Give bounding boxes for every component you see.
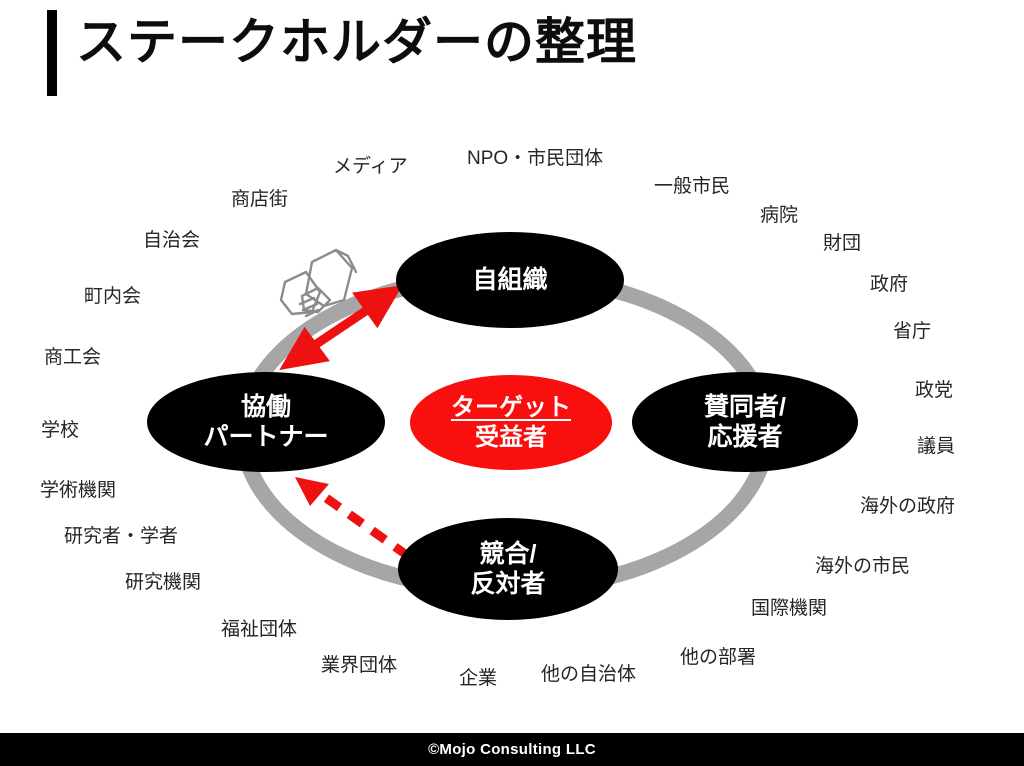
satellite-label: 町内会 (84, 287, 141, 306)
node-target-beneficiary[interactable]: ターゲット 受益者 (410, 375, 612, 470)
node-collaboration-partner[interactable]: 協働 パートナー (147, 372, 385, 472)
satellite-label: NPO・市民団体 (467, 149, 603, 168)
satellite-label: 国際機関 (751, 599, 827, 618)
node-competitors-opponents-line1: 競合/ (480, 539, 537, 570)
node-competitors-opponents[interactable]: 競合/ 反対者 (398, 518, 618, 620)
node-collaboration-partner-line1: 協働 (241, 392, 291, 423)
node-collaboration-partner-line2: パートナー (203, 422, 328, 453)
satellite-label: 一般市民 (654, 177, 730, 196)
satellite-label: 福祉団体 (221, 620, 297, 639)
footer-copyright: ©Mojo Consulting LLC (428, 741, 596, 758)
satellite-label: 学校 (41, 421, 79, 440)
satellite-label: 他の部署 (680, 648, 756, 667)
node-self-organization[interactable]: 自組織 (396, 232, 624, 328)
satellite-label: 業界団体 (321, 656, 397, 675)
node-target-beneficiary-line1: ターゲット (451, 393, 571, 422)
satellite-label: 省庁 (893, 322, 931, 341)
satellite-label: 財団 (823, 234, 861, 253)
node-self-organization-label: 自組織 (472, 265, 547, 296)
satellite-label: 研究者・学者 (64, 527, 178, 546)
satellite-label: 学術機関 (40, 481, 116, 500)
node-supporters-line2: 応援者 (707, 422, 782, 453)
satellite-label: 企業 (459, 669, 497, 688)
satellite-label: 海外の市民 (815, 557, 910, 576)
node-supporters[interactable]: 賛同者/ 応援者 (632, 372, 858, 472)
satellite-label: 病院 (760, 206, 798, 225)
slide-canvas: ステークホルダーの整理 メディアNPO・市民団体商店街一般市民病院自治会財団町内… (0, 0, 1024, 766)
node-supporters-line1: 賛同者/ (704, 392, 786, 423)
satellite-label: 商工会 (44, 348, 101, 367)
satellite-label: 海外の政府 (860, 497, 955, 516)
title-accent-bar (47, 10, 57, 96)
satellite-label: 他の自治体 (541, 665, 636, 684)
footer-bar: ©Mojo Consulting LLC (0, 733, 1024, 766)
node-competitors-opponents-line2: 反対者 (470, 569, 545, 600)
satellite-label: メディア (333, 157, 408, 176)
satellite-label: 商店街 (231, 190, 288, 209)
satellite-label: 政党 (915, 381, 953, 400)
page-title: ステークホルダーの整理 (76, 15, 637, 70)
satellite-label: 政府 (870, 275, 908, 294)
node-target-beneficiary-line2: 受益者 (475, 423, 547, 452)
satellite-label: 研究機関 (125, 573, 201, 592)
satellite-label: 議員 (917, 437, 955, 456)
satellite-label: 自治会 (143, 231, 200, 250)
